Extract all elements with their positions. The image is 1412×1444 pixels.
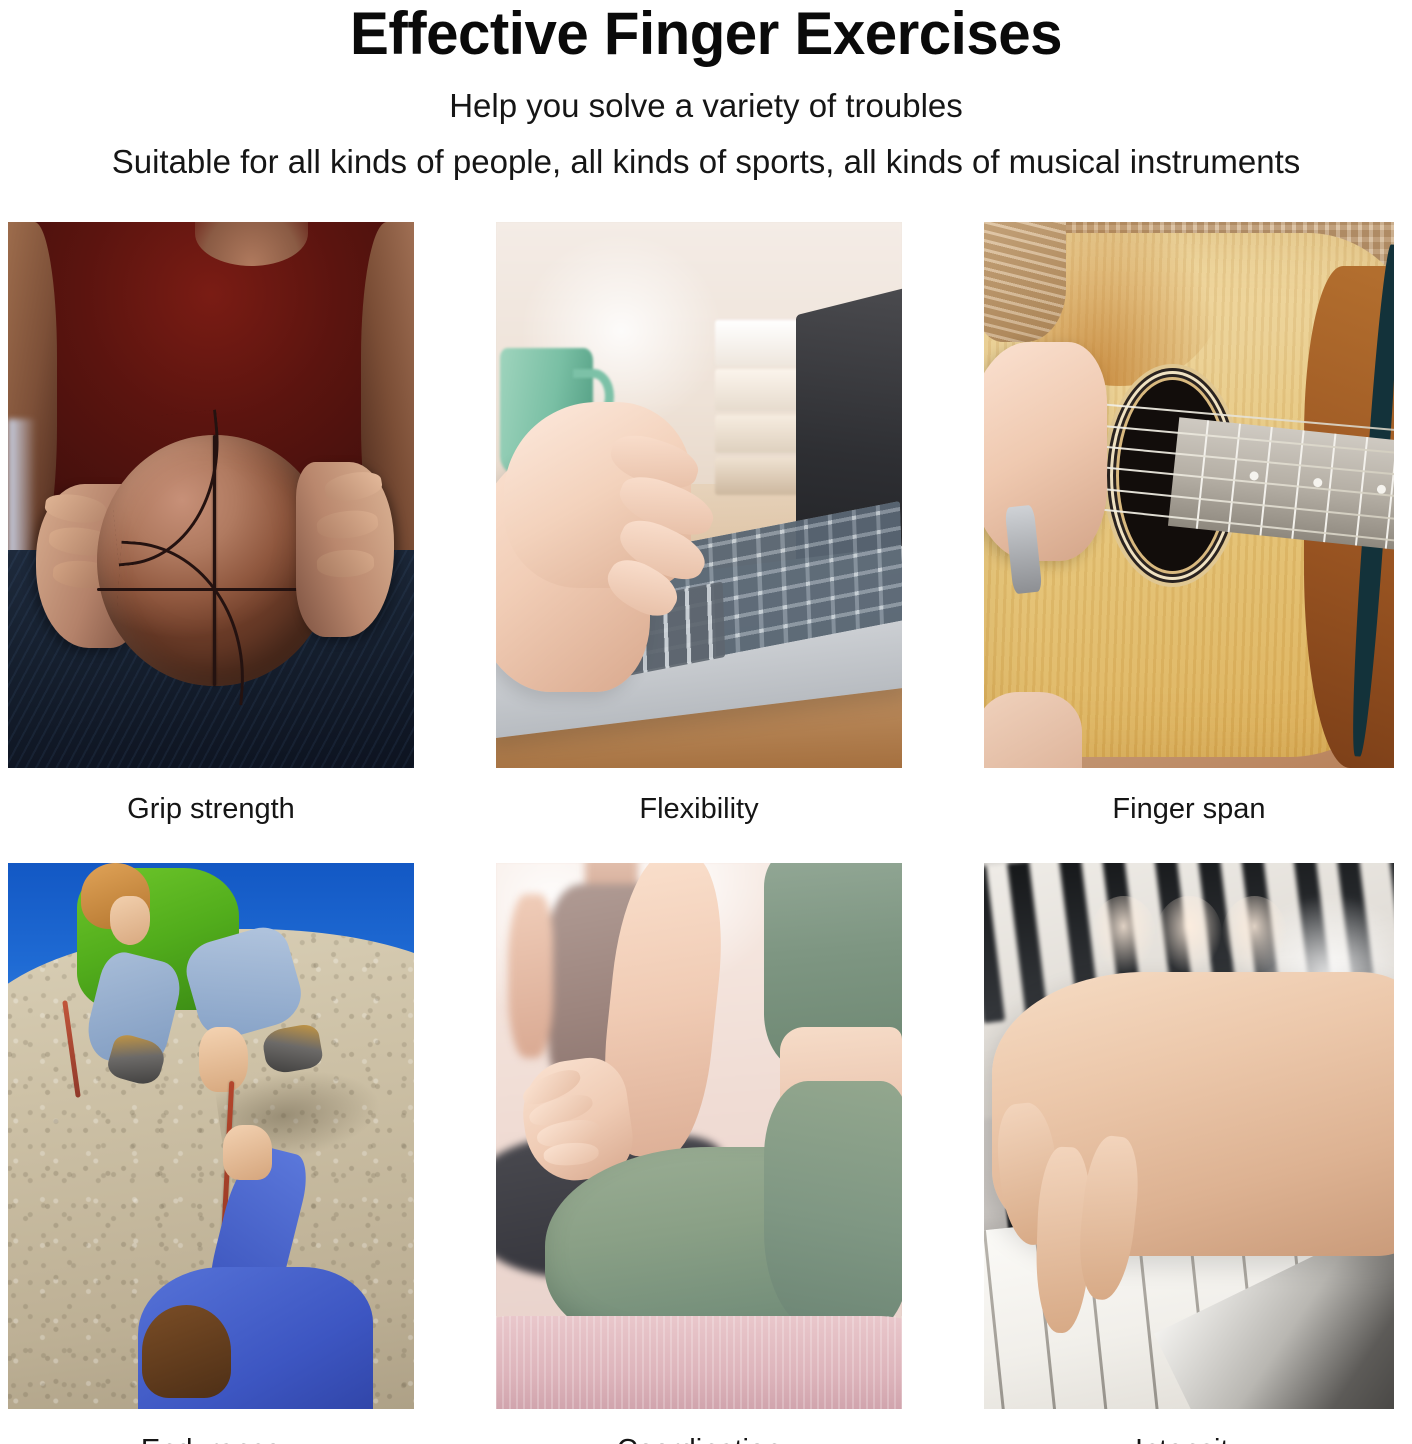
header: Effective Finger Exercises Help you solv…: [0, 0, 1412, 182]
grid-cell-flexibility: Flexibility: [496, 222, 902, 832]
rock-climbing-photo: [8, 863, 414, 1409]
yoga-meditation-photo: [496, 863, 902, 1409]
row-spacer: [984, 832, 1394, 863]
product-infographic-page: Effective Finger Exercises Help you solv…: [0, 0, 1412, 1444]
caption-endurance: Endurance: [8, 1409, 414, 1444]
basketball-grip-photo: [8, 222, 414, 768]
caption-grip-strength: Grip strength: [8, 768, 414, 832]
grid-cell-intensity: Intensity: [984, 863, 1394, 1444]
subtitle-line-1: Help you solve a variety of troubles: [0, 86, 1412, 126]
grid-cell-endurance: Endurance: [8, 863, 414, 1444]
caption-finger-span: Finger span: [984, 768, 1394, 832]
caption-intensity: Intensity: [984, 1409, 1394, 1444]
acoustic-guitar-photo: [984, 222, 1394, 768]
caption-coordination: Coordination: [496, 1409, 902, 1444]
row-spacer: [496, 832, 902, 863]
row-spacer: [8, 832, 414, 863]
laptop-typing-photo: [496, 222, 902, 768]
grid-cell-grip-strength: Grip strength: [8, 222, 414, 832]
subtitle-line-2: Suitable for all kinds of people, all ki…: [0, 142, 1412, 182]
page-title: Effective Finger Exercises: [21, 2, 1391, 66]
benefit-grid: Grip strength: [8, 222, 1404, 1444]
grid-cell-finger-span: Finger span: [984, 222, 1394, 832]
caption-flexibility: Flexibility: [496, 768, 902, 832]
grid-cell-coordination: Coordination: [496, 863, 902, 1444]
piano-playing-photo: [984, 863, 1394, 1409]
